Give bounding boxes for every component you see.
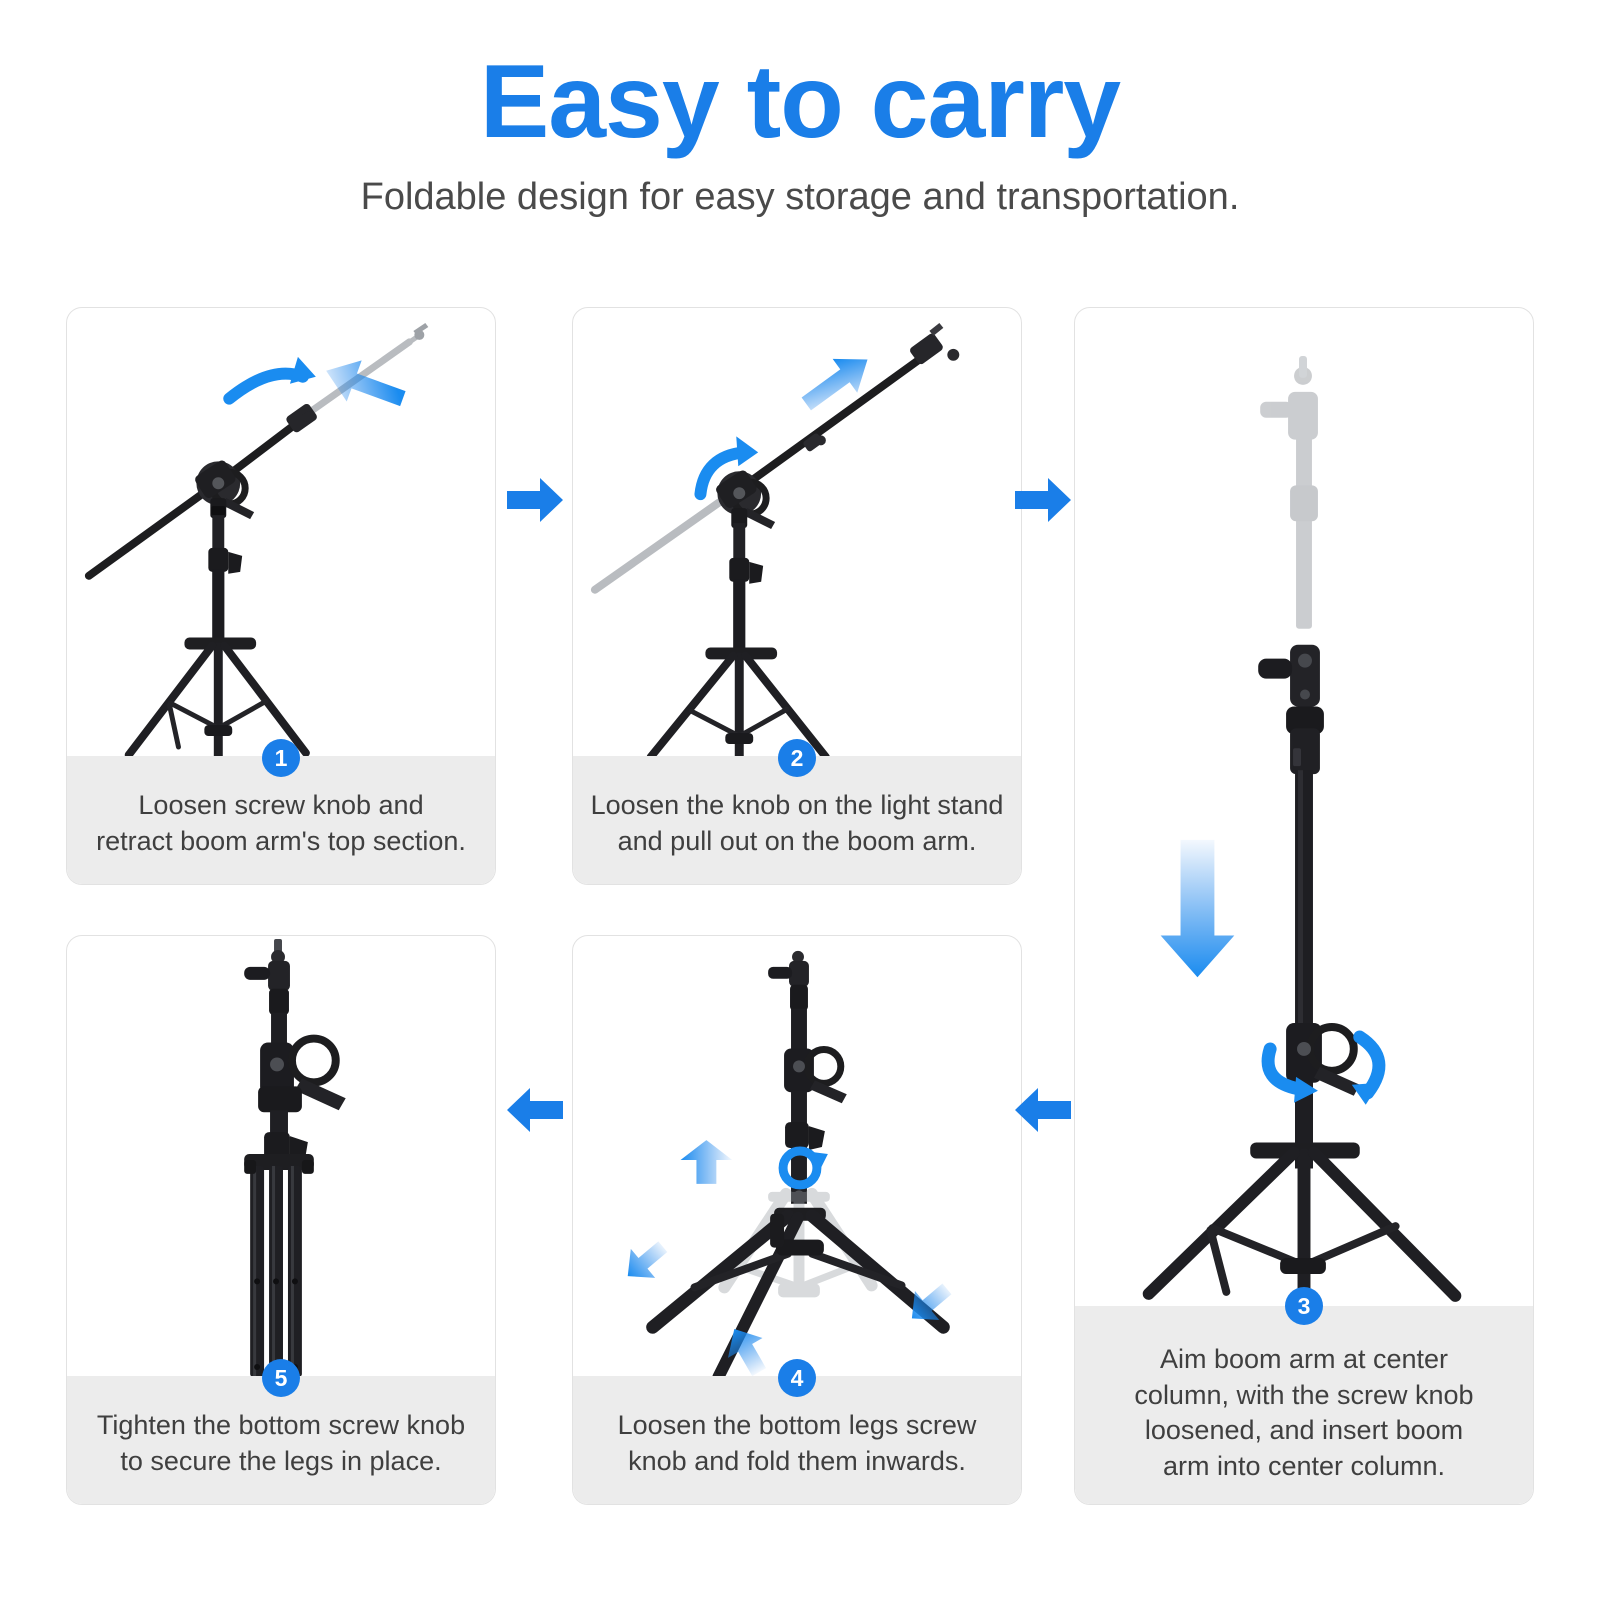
flow-arrow-4-to-5 [505,1080,565,1140]
step-1-badge: 1 [262,739,300,777]
step-card-2[interactable]: 2 Loosen the knob on the light stand and… [572,307,1022,885]
step-3-caption-text: Aim boom arm at center column, with the … [1075,1342,1533,1485]
arrow-right-icon [505,470,565,530]
folded-stand-icon [67,936,495,1378]
step-3-illustration [1075,308,1533,1308]
arrow-right-icon [1013,470,1073,530]
step-5-badge: 5 [262,1359,300,1397]
flow-arrow-1-to-2 [505,470,565,530]
boom-stand-pullout-icon [573,308,1021,758]
step-card-4[interactable]: 4 Loosen the bottom legs screw knob and … [572,935,1022,1505]
step-4-caption-text: Loosen the bottom legs screw knob and fo… [573,1408,1021,1479]
flow-arrow-2-to-3 [1013,470,1073,530]
page-subtitle: Foldable design for easy storage and tra… [0,176,1600,219]
step-card-1[interactable]: 1 Loosen screw knob and retract boom arm… [66,307,496,885]
step-2-caption-text: Loosen the knob on the light stand and p… [573,788,1021,859]
step-2-badge: 2 [778,739,816,777]
step-1-caption-text: Loosen screw knob and retract boom arm's… [67,788,495,859]
vertical-stand-insert-icon [1075,308,1533,1308]
page-title: Easy to carry [0,48,1600,157]
step-1-illustration [67,308,495,758]
step-5-caption-text: Tighten the bottom screw knob to secure … [67,1408,495,1479]
tripod-fold-legs-icon [573,936,1021,1378]
step-2-illustration [573,308,1021,758]
arrow-left-icon [1013,1080,1073,1140]
step-card-3[interactable]: 3 Aim boom arm at center column, with th… [1074,307,1534,1505]
step-5-illustration [67,936,495,1378]
step-4-illustration [573,936,1021,1378]
step-3-badge: 3 [1285,1287,1323,1325]
boom-stand-retract-icon [67,308,495,758]
flow-arrow-3-to-4 [1013,1080,1073,1140]
infographic-page: Easy to carry Foldable design for easy s… [0,0,1600,1600]
step-3-caption: Aim boom arm at center column, with the … [1075,1306,1533,1504]
arrow-left-icon [505,1080,565,1140]
step-4-badge: 4 [778,1359,816,1397]
step-card-5[interactable]: 5 Tighten the bottom screw knob to secur… [66,935,496,1505]
